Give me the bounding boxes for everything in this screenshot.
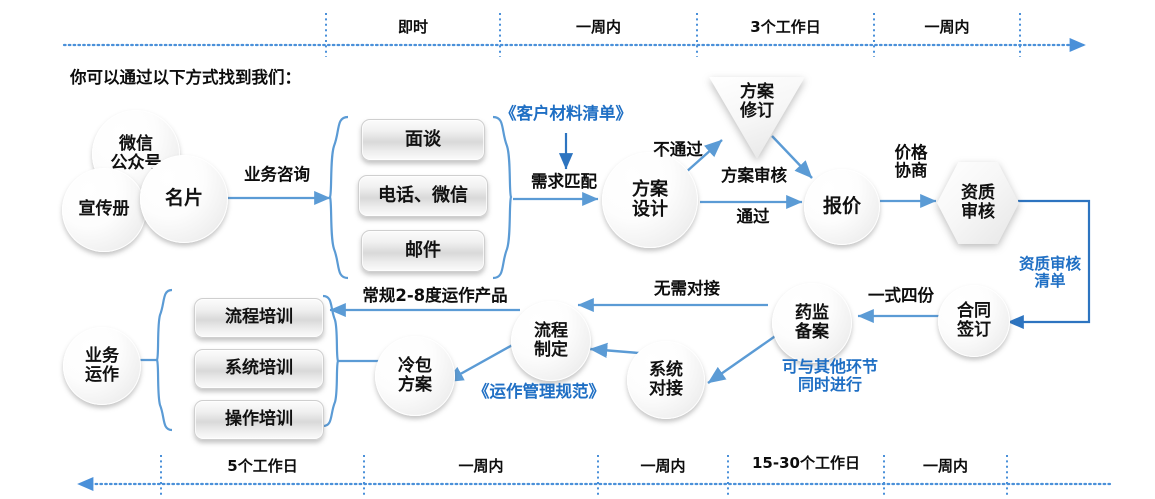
edge-label-quadruplicate: 一式四份: [855, 287, 947, 305]
edge-label-qualification-review-list: 资质审核 清单: [1006, 256, 1094, 291]
node-qualification-review-shape[interactable]: 资质 审核: [937, 162, 1019, 244]
node-phone-wechat[interactable]: 电话、微信: [358, 175, 488, 217]
edge-label-no-docking-needed: 无需对接: [634, 280, 740, 298]
edge-label-customer-material-list: 《客户材料清单》: [490, 105, 642, 123]
node-cold-chain-plan[interactable]: 冷包 方案: [375, 336, 455, 416]
node-process-training[interactable]: 流程培训: [194, 298, 324, 338]
flowchart-canvas: 你可以通过以下方式找到我们： 即时 一周内 3个工作日 一周内 5个工作日 一周…: [0, 0, 1155, 499]
brace-contact-left: [330, 117, 348, 278]
node-process-formulation[interactable]: 流程 制定: [511, 301, 591, 381]
timeline-bottom-label-2: 一周内: [598, 455, 728, 476]
timeline-bottom-label-4: 一周内: [884, 455, 1007, 476]
node-business-card[interactable]: 名片: [140, 155, 228, 243]
node-quotation[interactable]: 报价: [804, 169, 880, 245]
edge-label-operation-standard: 《运作管理规范》: [463, 383, 615, 401]
edge-label-not-passed: 不通过: [637, 141, 719, 159]
node-plan-revision: 方案 修订: [740, 83, 774, 121]
edge-label-price-negotiation: 价格 协商: [880, 144, 942, 181]
node-contract-signing[interactable]: 合同 签订: [938, 285, 1010, 357]
edge-label-business-consulting: 业务咨询: [224, 166, 330, 184]
node-system-training[interactable]: 系统培训: [194, 349, 324, 389]
timeline-top-label-0: 即时: [326, 16, 500, 37]
timeline-top-label-1: 一周内: [500, 16, 697, 37]
node-operation-training[interactable]: 操作培训: [194, 400, 324, 440]
intro-text: 你可以通过以下方式找到我们：: [70, 64, 301, 88]
node-drug-filing[interactable]: 药监 备案: [772, 283, 852, 363]
timeline-bottom-label-3: 15-30个工作日: [728, 452, 884, 473]
brace-training-left: [157, 290, 172, 430]
node-email[interactable]: 邮件: [361, 230, 485, 272]
node-face-to-face[interactable]: 面谈: [361, 119, 485, 161]
edge-label-can-run-parallel: 可与其他环节 同时进行: [768, 358, 892, 394]
node-brochure[interactable]: 宣传册: [62, 168, 146, 252]
edge-label-requirement-matching: 需求匹配: [512, 173, 616, 191]
brace-training-right: [323, 296, 338, 426]
timeline-bottom-label-0: 5个工作日: [161, 455, 364, 476]
node-qualification-review: 资质 审核: [961, 184, 995, 222]
edge-label-passed: 通过: [722, 208, 784, 226]
node-plan-design[interactable]: 方案 设计: [602, 152, 698, 248]
edge-label-routine-2-8-product: 常规2-8度运作产品: [340, 287, 530, 305]
node-plan-revision-shape[interactable]: 方案 修订: [709, 77, 805, 159]
node-system-docking[interactable]: 系统 对接: [627, 341, 705, 419]
edge-process-to-coldpack: [446, 343, 516, 382]
timeline-bottom-label-1: 一周内: [364, 455, 598, 476]
node-business-operation[interactable]: 业务 运作: [63, 327, 141, 405]
timeline-top-label-3: 一周内: [874, 16, 1020, 37]
timeline-top-label-2: 3个工作日: [697, 16, 874, 37]
edge-label-plan-review: 方案审核: [703, 167, 805, 185]
brace-contact-right: [493, 117, 511, 278]
